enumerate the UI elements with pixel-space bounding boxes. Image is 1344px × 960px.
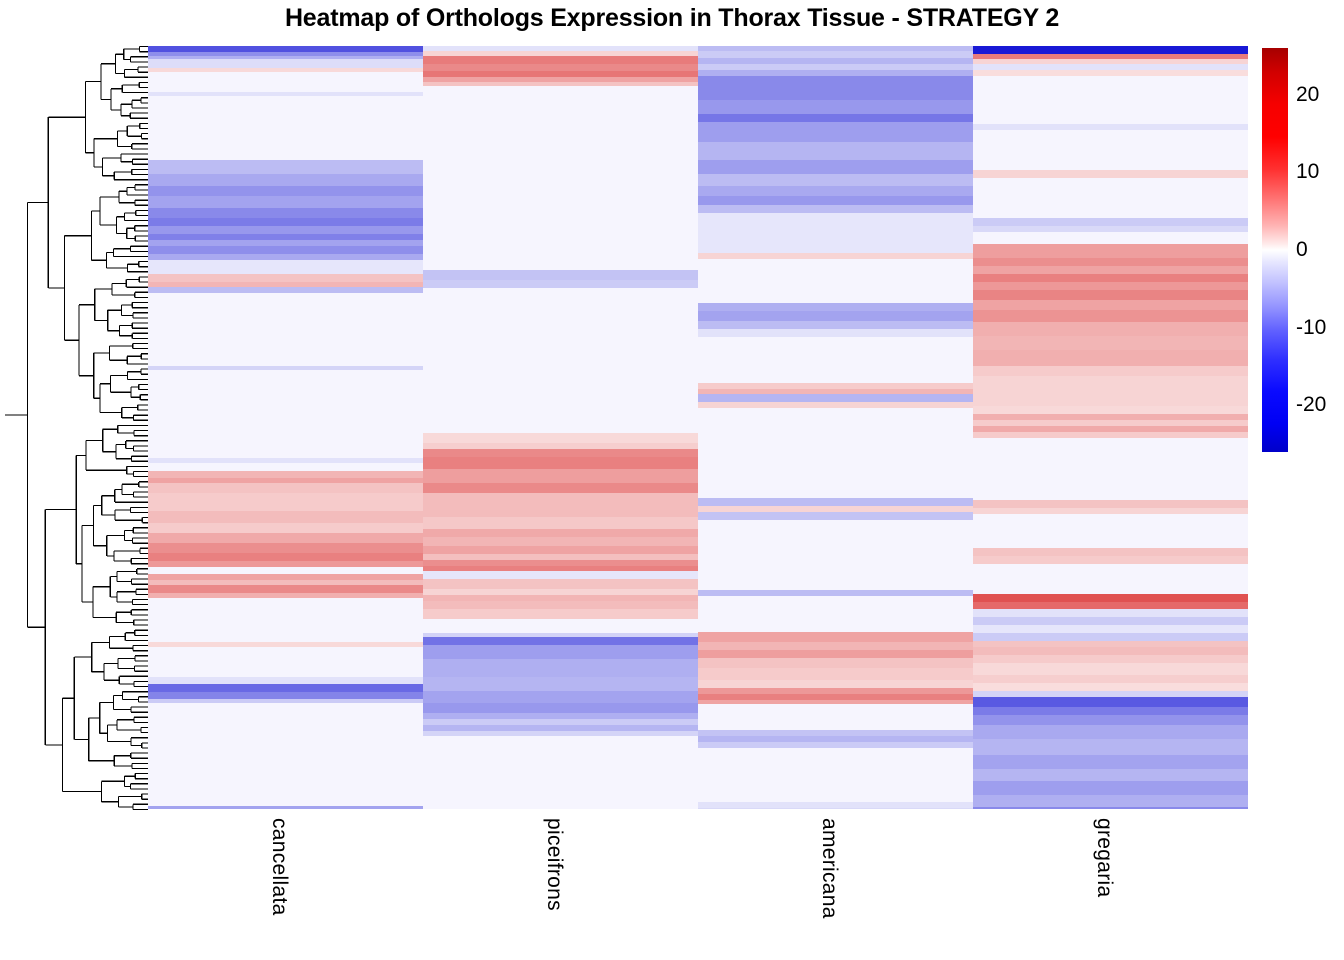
heatmap-cell [973,683,1248,691]
heatmap-cell [423,469,698,483]
heatmap-cell [148,218,423,226]
heatmap-cell [973,170,1248,178]
heatmap-cell [148,59,423,68]
page-title: Heatmap of Orthologs Expression in Thora… [0,4,1344,33]
heatmap-cell [698,114,973,122]
colorbar-tick-4: -20 [1296,393,1326,417]
heatmap-cell [148,585,423,593]
heatmap-cell [423,571,698,579]
heatmap-cell [148,692,423,699]
colorbar-tick-2: 0 [1296,238,1308,262]
heatmap-cell [973,438,1248,500]
colorbar-legend: 20100-10-20 [1262,48,1344,452]
heatmap-cell [973,564,1248,594]
heatmap-cell [148,96,423,160]
heatmap-cell [423,691,698,703]
heatmap-cell [148,703,423,806]
heatmap-cell [698,259,973,303]
heatmap-cell [148,274,423,282]
heatmap-cell [148,174,423,186]
heatmap-cell [698,311,973,321]
heatmap-cell [148,806,423,809]
heatmap-cell [148,598,423,642]
heatmap-cell [148,677,423,684]
heatmap-cell [423,288,698,433]
heatmap-cell [973,500,1248,508]
colorbar-gradient [1262,48,1288,452]
colorbar-tick-1: 10 [1296,160,1319,184]
heatmap-cell [148,647,423,677]
heatmap-cell [973,697,1248,707]
heatmap-cell [148,463,423,471]
heatmap-cell [973,350,1248,366]
heatmap-figure: Heatmap of Orthologs Expression in Thora… [0,0,1344,960]
heatmap-cell [423,659,698,677]
heatmap-cell [973,707,1248,715]
heatmap-cell [973,130,1248,170]
heatmap-cell [973,625,1248,633]
heatmap-cell [973,739,1248,755]
heatmap-cell [698,205,973,213]
heatmap-cell [423,86,698,270]
colorbar-tick-0: 20 [1296,83,1319,107]
heatmap-cell [148,186,423,196]
heatmap-cell [698,160,973,174]
heatmap-cell [423,56,698,64]
heatmap-cell [698,808,973,809]
heatmap-cell [423,457,698,469]
heatmap-cell [973,655,1248,663]
heatmap-column-piceifrons [423,46,698,809]
heatmap-cell [148,511,423,523]
heatmap-cell [423,493,698,517]
heatmap-cell [698,680,973,688]
heatmap-cell [698,51,973,58]
heatmap-cell [973,76,1248,124]
heatmap-cell [423,677,698,691]
col-label-gregaria: gregaria [1092,818,1116,897]
heatmap-cell [698,213,973,253]
heatmap-cell [698,658,973,668]
heatmap-cell [698,321,973,329]
heatmap-cell [973,290,1248,300]
heatmap-cell [148,567,423,574]
heatmap-cell [973,807,1248,809]
heatmap-cell [973,548,1248,556]
dendrogram-svg [2,44,148,812]
heatmap-cell [148,246,423,254]
heatmap-cell [423,619,698,633]
heatmap-cell [148,483,423,493]
heatmap-cell [148,493,423,511]
heatmap-cell [698,174,973,186]
heatmap-cell [148,196,423,208]
heatmap-cell [698,596,973,632]
heatmap-cell [698,394,973,402]
heatmap-cell [973,282,1248,290]
heatmap-cell [148,523,423,533]
heatmap-cell [698,186,973,196]
heatmap-cell [973,609,1248,617]
heatmap-cell [423,537,698,546]
heatmap-cell [698,632,973,642]
heatmap-cell [973,366,1248,376]
heatmap-cell [148,684,423,692]
heatmap-cell [423,601,698,609]
heatmap-cell [423,433,698,443]
heatmap-cell [973,755,1248,769]
heatmap-cell [698,100,973,114]
heatmap-cell [973,715,1248,725]
heatmap-cell [973,300,1248,310]
heatmap-cell [973,725,1248,739]
heatmap-cell [698,76,973,100]
heatmap-cell [148,160,423,174]
heatmap-cell [148,293,423,366]
heatmap-cell [973,178,1248,218]
heatmap-cell [973,258,1248,266]
heatmap-cell [698,668,973,680]
heatmap-cell [423,483,698,493]
heatmap-cell [973,633,1248,641]
heatmap-cell [423,270,698,280]
heatmap-cell [973,556,1248,564]
heatmap-cell [423,703,698,713]
heatmap-cell [973,232,1248,244]
row-dendrogram [2,44,148,812]
heatmap-cell [698,498,973,506]
col-label-americana: americana [817,818,841,919]
heatmap-cell [973,602,1248,609]
heatmap-cell [698,408,973,498]
heatmap-cell [973,795,1248,807]
heatmap-cell [698,303,973,311]
heatmap-cell [973,322,1248,336]
heatmap-cell [698,122,973,142]
heatmap-cell [973,310,1248,322]
heatmap-cell [698,142,973,160]
heatmap-cell [973,244,1248,258]
heatmap-column-cancellata [148,46,423,809]
heatmap-cell [973,663,1248,675]
heatmap-cell [148,226,423,234]
heatmap-cell [423,645,698,659]
heatmap-cell [423,517,698,529]
heatmap-cell [423,449,698,457]
heatmap-cell [973,769,1248,781]
heatmap-cell [973,336,1248,350]
heatmap-cell [973,266,1248,274]
heatmap-cell [973,406,1248,414]
heatmap-cell [973,218,1248,226]
heatmap-cell [973,274,1248,282]
heatmap-cell [148,260,423,274]
heatmap-cell [148,543,423,553]
heatmap-grid [148,46,1248,809]
col-label-piceifrons: piceifrons [542,818,566,911]
heatmap-cell [148,72,423,92]
heatmap-column-americana [698,46,973,809]
heatmap-cell [973,514,1248,548]
heatmap-cell [698,196,973,205]
heatmap-cell [423,529,698,537]
heatmap-cell [973,781,1248,795]
heatmap-cell [148,370,423,458]
heatmap-cell [423,280,698,288]
heatmap-cell [698,337,973,383]
heatmap-cell [148,533,423,543]
heatmap-cell [698,512,973,520]
heatmap-cell [973,376,1248,406]
heatmap-cell [698,714,973,730]
colorbar-tick-3: -10 [1296,316,1326,340]
heatmap-cell [148,471,423,478]
heatmap-cell [148,553,423,561]
heatmap-cell [423,736,698,809]
heatmap-cell [973,594,1248,602]
heatmap-cell [973,46,1248,54]
heatmap-cell [973,647,1248,655]
col-label-cancellata: cancellata [267,818,291,916]
heatmap-cell [698,650,973,658]
heatmap-cell [148,208,423,218]
heatmap-cell [698,520,973,590]
heatmap-cell [698,704,973,714]
heatmap-cell [423,64,698,71]
heatmap-cell [698,642,973,650]
heatmap-cell [698,329,973,337]
heatmap-cell [423,609,698,619]
heatmap-column-gregaria [973,46,1248,809]
heatmap-cell [973,675,1248,683]
heatmap-cell [423,637,698,645]
heatmap-cell [973,617,1248,625]
heatmap-cell [423,546,698,554]
heatmap-cell [698,748,973,802]
heatmap-cell [423,579,698,589]
dendrogram-branches [5,47,148,810]
